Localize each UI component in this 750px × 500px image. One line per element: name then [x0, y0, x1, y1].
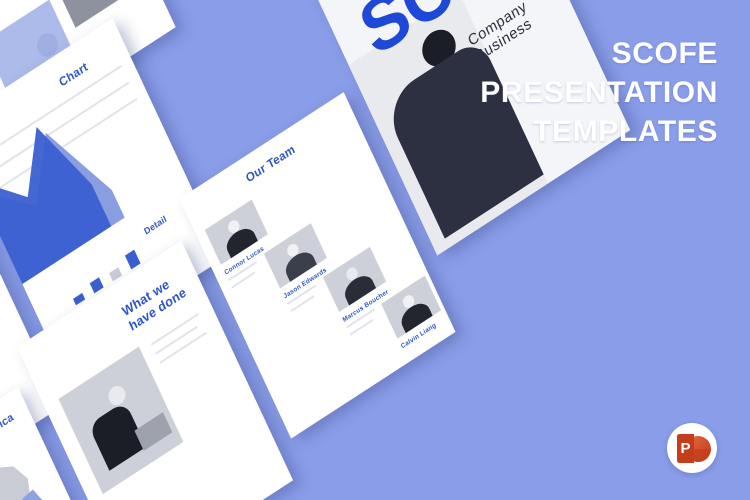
powerpoint-badge[interactable]: P	[667, 423, 717, 473]
title-line-3: TEMPLATES	[388, 112, 718, 151]
title-line-1: SCOFE	[388, 34, 718, 73]
slide-photo	[52, 0, 145, 28]
legend-bar	[125, 250, 141, 270]
title-line-2: PRESENTATION	[388, 73, 718, 112]
slide-title: Our Team	[244, 143, 297, 186]
area-chart	[0, 65, 177, 287]
poster-canvas: Our Services	[0, 0, 750, 500]
legend-title: Detail	[142, 214, 168, 237]
powerpoint-icon: P	[677, 434, 707, 463]
slide-title: Chart	[57, 60, 90, 90]
page-title: SCOFE PRESENTATION TEMPLATES	[388, 34, 718, 151]
powerpoint-icon-letter: P	[677, 434, 694, 463]
slide-photo	[58, 347, 183, 494]
